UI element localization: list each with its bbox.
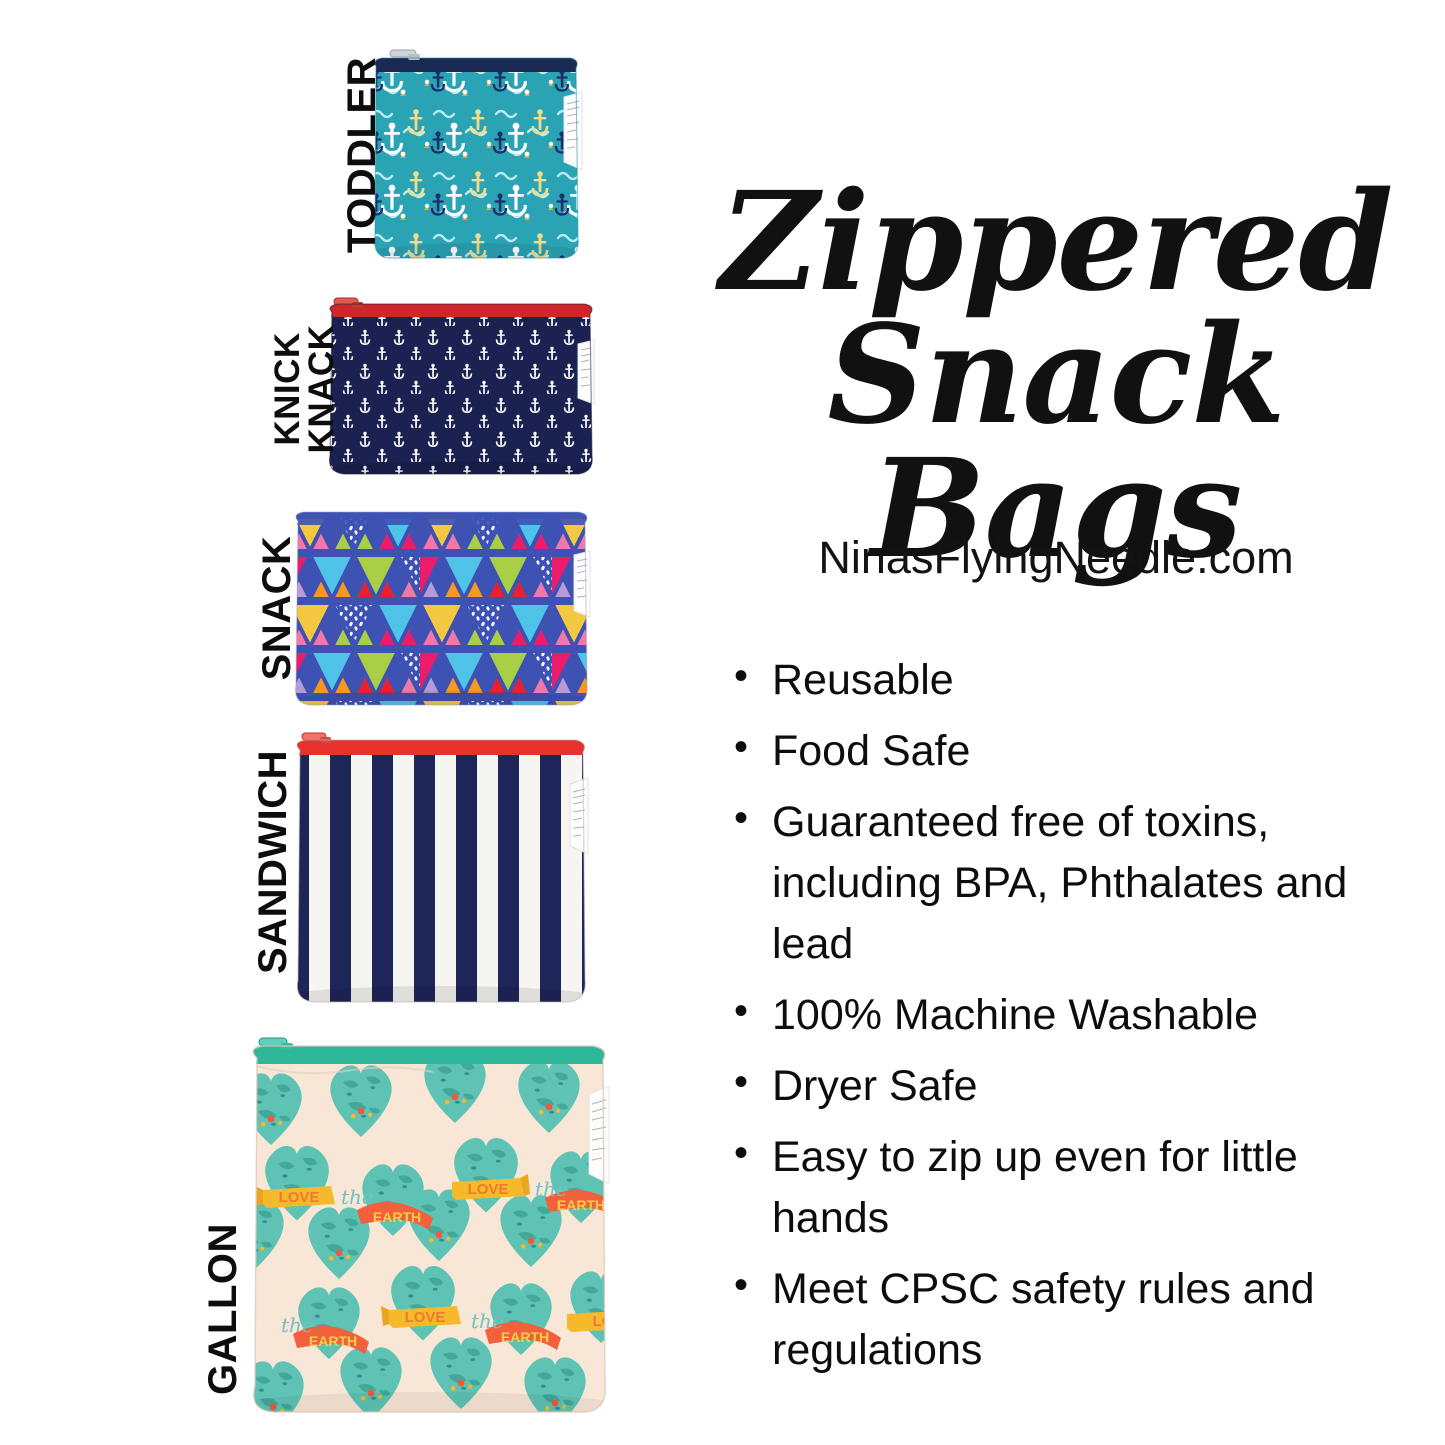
bullet-icon: • xyxy=(734,719,748,776)
feature-text: Meet CPSC safety rules and regulations xyxy=(772,1265,1315,1374)
feature-text: 100% Machine Washable xyxy=(772,991,1258,1039)
size-label-knick-knack: KNICK KNACK xyxy=(246,294,364,484)
svg-text:the: the xyxy=(341,1185,374,1209)
svg-text:the: the xyxy=(535,1177,568,1201)
size-label-sandwich: SANDWICH xyxy=(210,764,336,974)
feature-item: • Guaranteed free of toxins, including B… xyxy=(726,792,1426,975)
feature-text: Reusable xyxy=(772,656,954,704)
svg-text:EARTH: EARTH xyxy=(373,1209,421,1225)
feature-text: Easy to zip up even for little hands xyxy=(772,1133,1298,1242)
feature-text: Dryer Safe xyxy=(772,1062,978,1110)
care-label xyxy=(570,778,588,854)
bullet-icon: • xyxy=(734,983,748,1040)
size-label-gallon: GALLON xyxy=(160,1209,286,1409)
feature-item: • Easy to zip up even for little hands xyxy=(726,1127,1426,1249)
website-url: NinasFlyingNeedle.com xyxy=(676,532,1436,584)
feature-item: • Food Safe xyxy=(726,721,1426,782)
svg-text:EARTH: EARTH xyxy=(501,1329,549,1345)
bullet-icon: • xyxy=(734,1125,748,1182)
care-label xyxy=(564,92,582,170)
svg-text:LOVE: LOVE xyxy=(468,1181,509,1198)
svg-text:LOVE: LOVE xyxy=(405,1309,446,1326)
svg-text:the: the xyxy=(471,1309,504,1333)
product-image-gallon: LOVE LOVE LOVE LO xyxy=(243,1032,613,1422)
bullet-icon: • xyxy=(734,1054,748,1111)
size-label-snack: SNACK xyxy=(214,513,340,703)
page-title: Zippered Snack Bags xyxy=(676,176,1436,576)
feature-text: Food Safe xyxy=(772,727,970,775)
feature-text: Guaranteed free of toxins, including BPA… xyxy=(772,798,1347,968)
infographic-canvas: TODDLER xyxy=(0,0,1445,1445)
bullet-icon: • xyxy=(734,1257,748,1314)
svg-text:LO: LO xyxy=(593,1313,613,1330)
feature-item: • 100% Machine Washable xyxy=(726,985,1426,1046)
svg-text:EARTH: EARTH xyxy=(309,1333,357,1349)
care-label xyxy=(574,551,590,617)
svg-text:LOVE: LOVE xyxy=(279,1189,320,1206)
size-label-toddler: TODDLER xyxy=(297,55,427,255)
feature-item: • Meet CPSC safety rules and regulations xyxy=(726,1259,1426,1381)
bullet-icon: • xyxy=(734,790,748,847)
feature-item: • Reusable xyxy=(726,650,1426,711)
care-label xyxy=(589,1086,609,1184)
bullet-icon: • xyxy=(734,648,748,705)
feature-list: • Reusable • Food Safe • Guaranteed free… xyxy=(726,650,1426,1392)
feature-item: • Dryer Safe xyxy=(726,1056,1426,1117)
